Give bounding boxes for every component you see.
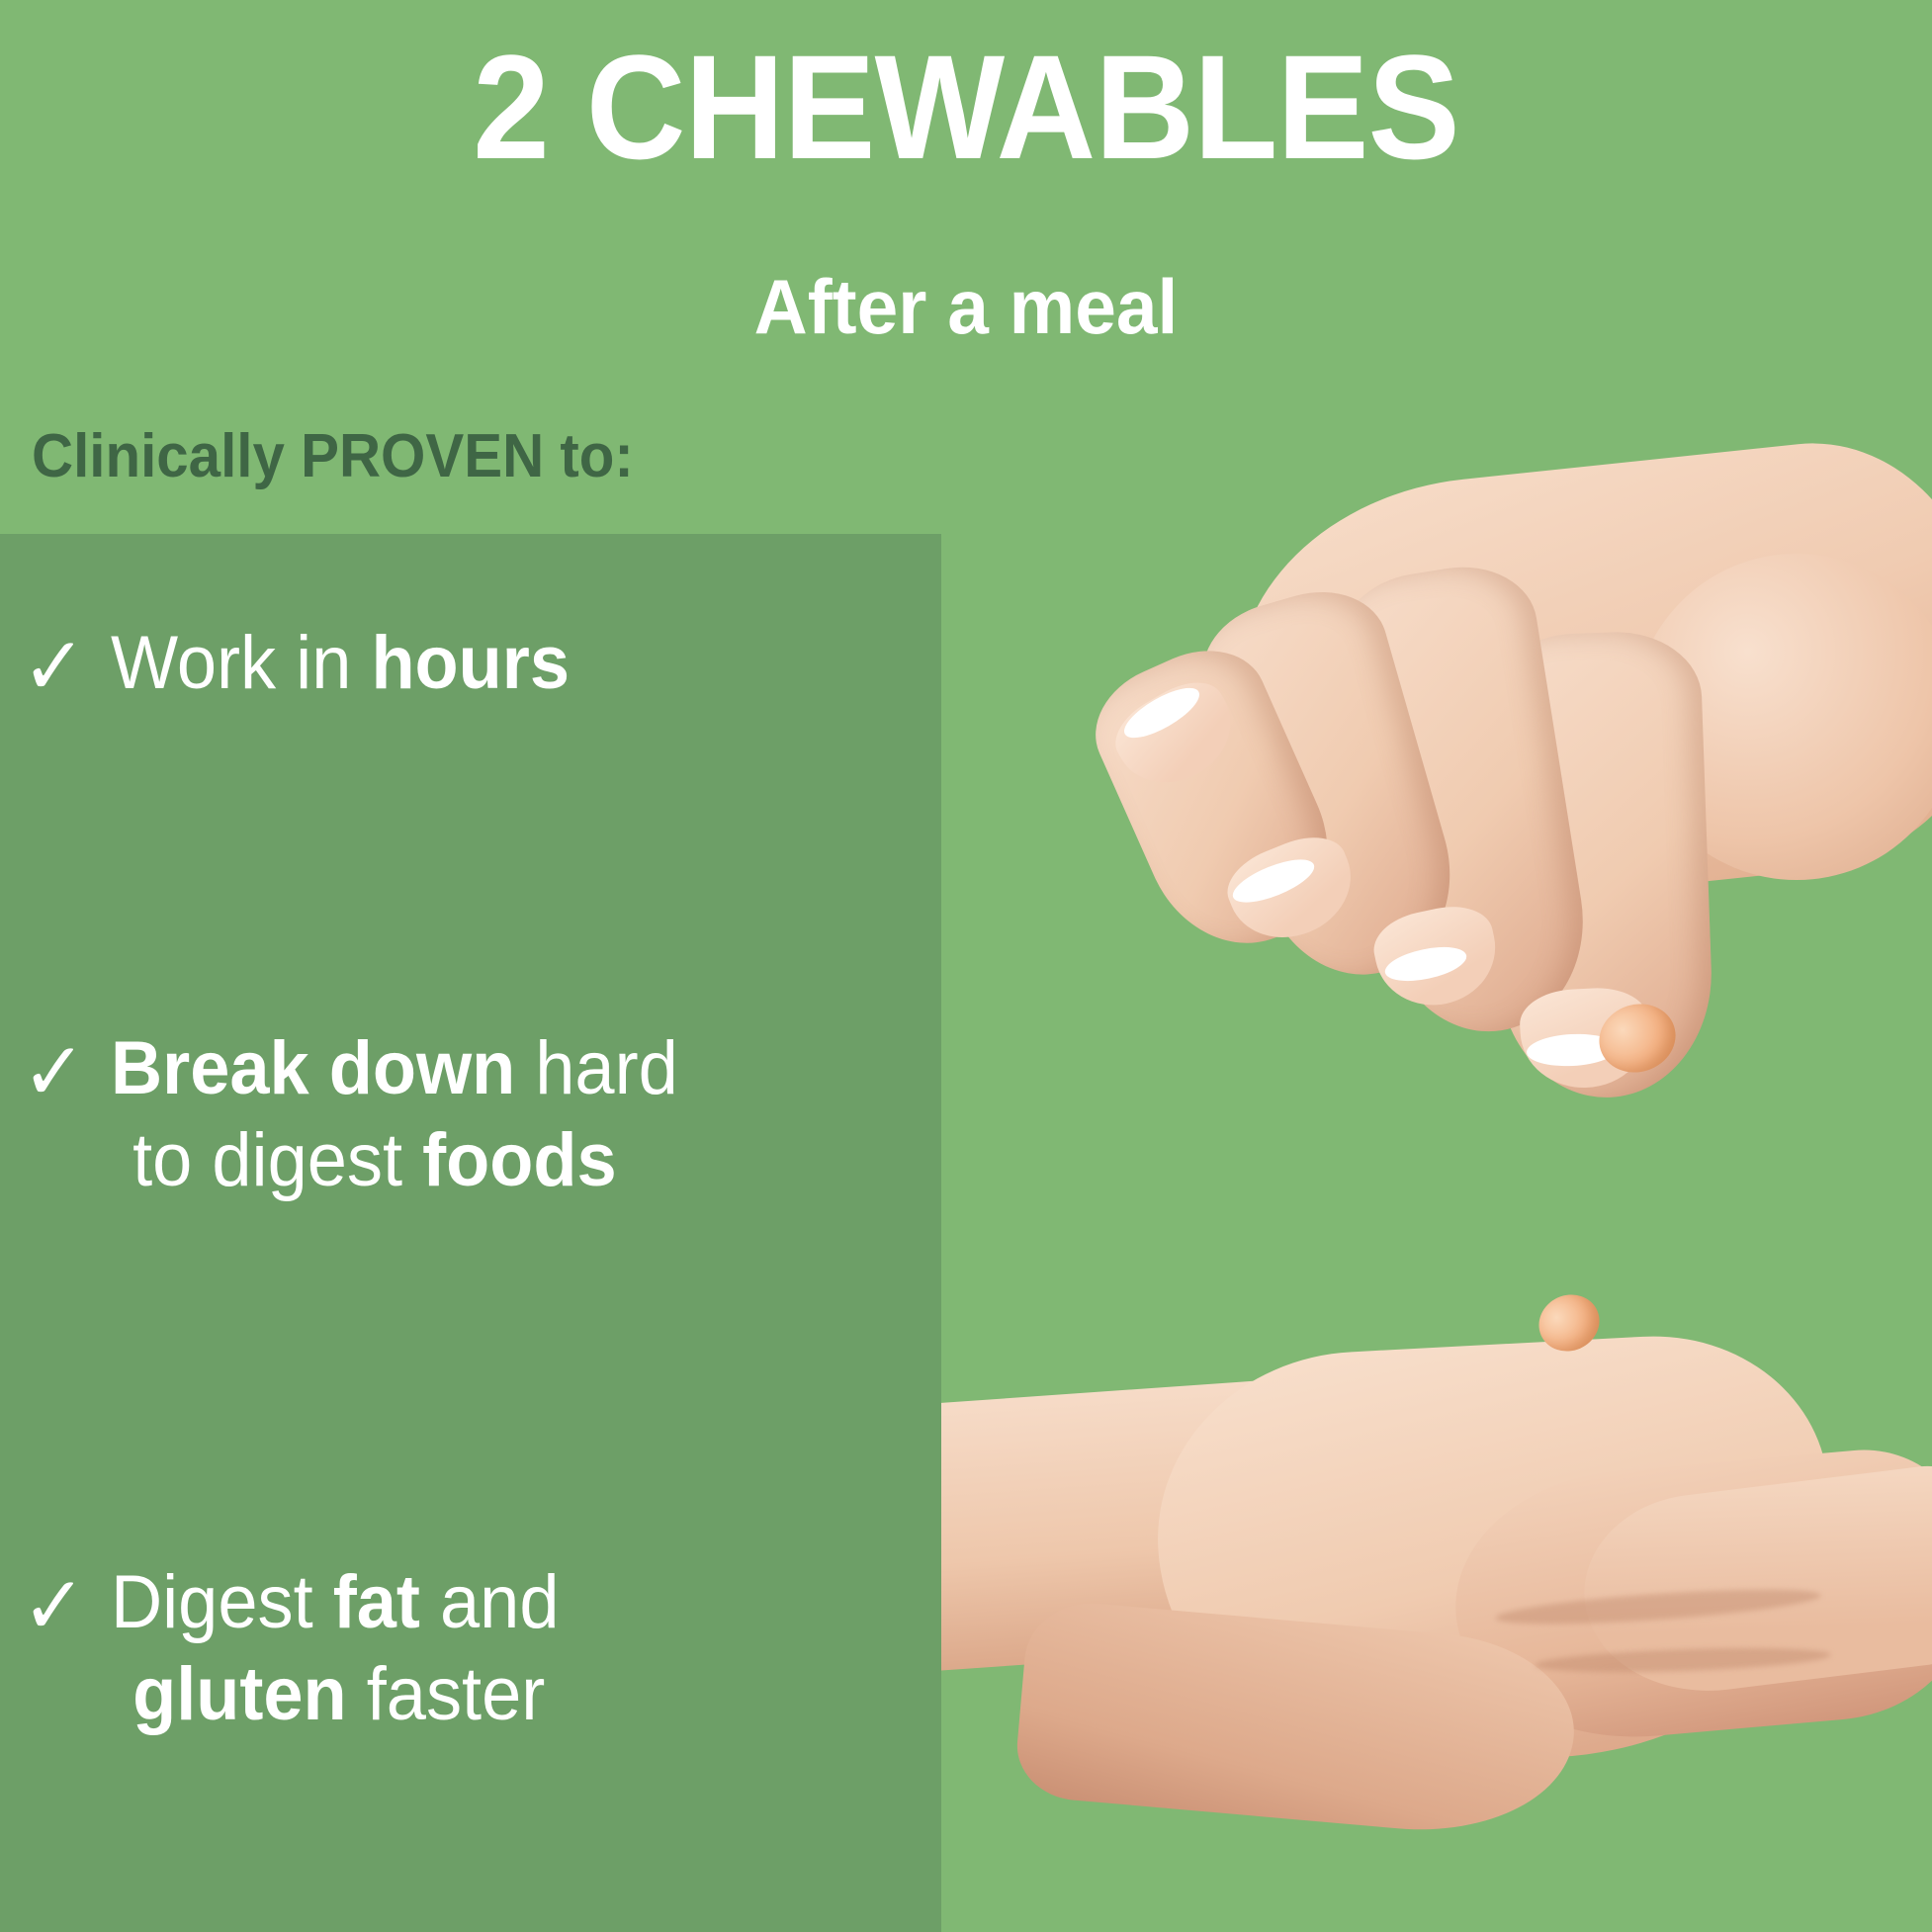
french-manicure-tip	[1382, 941, 1469, 988]
fingernail	[1367, 898, 1505, 1015]
french-manicure-tip	[1117, 679, 1205, 747]
lower-hand-fingers	[1573, 1458, 1932, 1706]
lower-hand-palm-cup	[1445, 1442, 1932, 1752]
upper-hand-knuckles	[1633, 554, 1932, 880]
benefit-item: ✓Work in hours	[22, 618, 877, 710]
benefit-text-bold: Break down	[111, 1026, 515, 1110]
fingernail	[1103, 668, 1250, 803]
upper-hand-ring-finger	[1188, 574, 1475, 997]
french-manicure-tip	[1526, 1032, 1619, 1069]
benefit-text-plain: hard	[515, 1026, 678, 1110]
upper-hand-little-finger	[1077, 629, 1360, 972]
fingernail	[1217, 825, 1366, 956]
benefit-text-bold: hours	[371, 621, 570, 705]
check-icon: ✓	[22, 627, 86, 708]
clinically-proven-label: Clinically PROVEN to:	[32, 423, 634, 490]
fingernail	[1518, 986, 1651, 1092]
pill-falling-icon	[1530, 1285, 1608, 1361]
upper-hand-index-finger	[1487, 629, 1715, 1100]
benefit-text-plain: and	[420, 1560, 560, 1644]
upper-hand-back	[1218, 426, 1932, 927]
lower-hand-thumb	[1012, 1598, 1581, 1843]
benefit-item: ✓Break down hard to digest foods	[22, 1023, 877, 1206]
benefit-text-bold: foods	[422, 1118, 617, 1202]
french-manicure-tip	[1228, 851, 1320, 912]
palm-crease	[1535, 1644, 1832, 1676]
benefit-text-bold: gluten	[132, 1652, 347, 1736]
pill-held-icon	[1590, 995, 1684, 1083]
upper-hand-middle-finger	[1331, 556, 1599, 1046]
lower-hand-wrist	[941, 1366, 1483, 1685]
page-subtitle: After a meal	[39, 265, 1893, 350]
benefit-text-bold: fat	[333, 1560, 420, 1644]
benefit-item: ✓Digest fat and gluten faster	[22, 1557, 877, 1740]
product-benefit-poster: 2 CHEWABLES After a meal Clinically PROV…	[0, 0, 1932, 1932]
check-icon: ✓	[22, 1566, 86, 1647]
benefit-text-plain: Work in	[111, 621, 371, 705]
lower-hand-palm	[1148, 1327, 1841, 1777]
benefit-text-plain: to digest	[132, 1118, 422, 1202]
palm-crease	[1494, 1583, 1821, 1631]
benefit-text-plain: faster	[347, 1652, 546, 1736]
check-icon: ✓	[22, 1032, 86, 1113]
page-title: 2 CHEWABLES	[67, 30, 1864, 186]
benefit-text-plain: Digest	[111, 1560, 333, 1644]
